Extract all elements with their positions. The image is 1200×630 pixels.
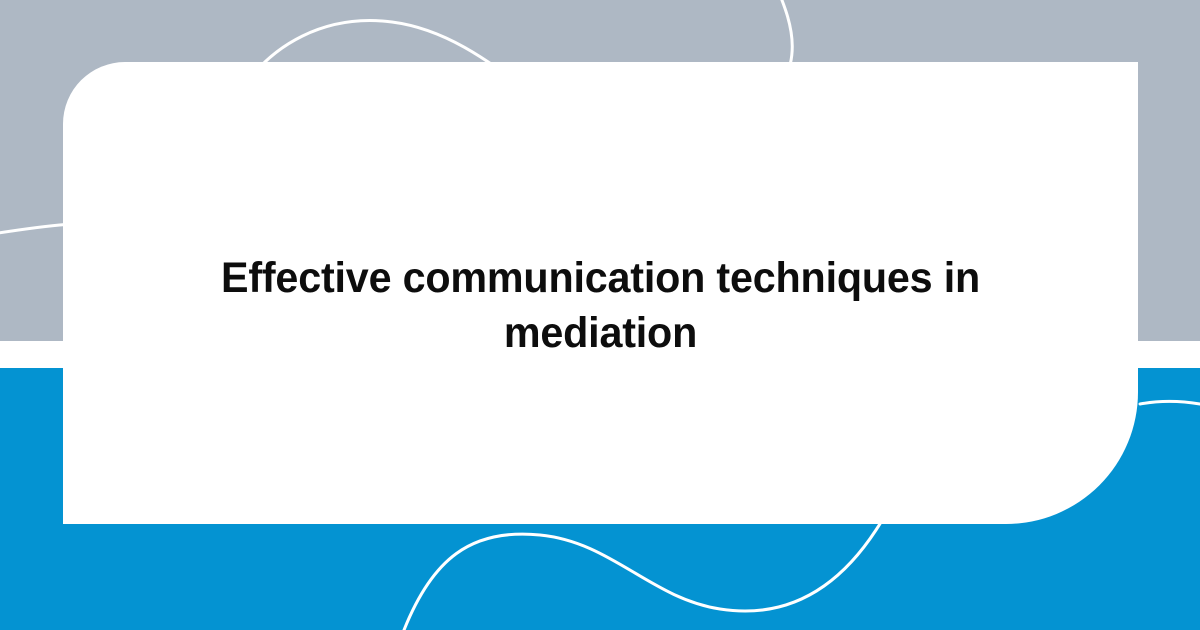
content-card: Effective communication techniques in me… — [63, 62, 1138, 524]
page-title: Effective communication techniques in me… — [200, 251, 1002, 361]
share-card-canvas: Effective communication techniques in me… — [0, 0, 1200, 630]
